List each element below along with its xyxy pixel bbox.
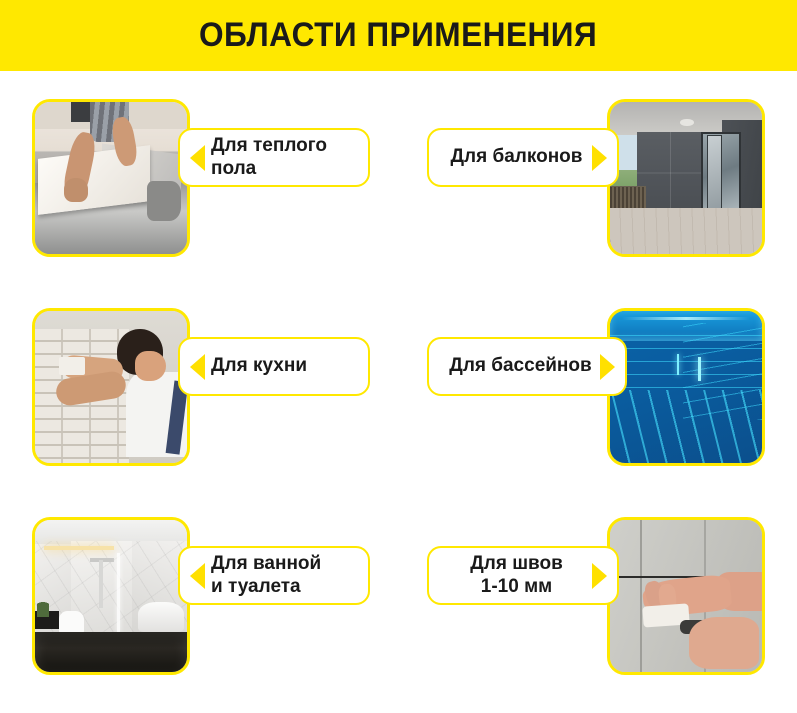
illustration-swimming-pool <box>610 311 762 463</box>
card-label-text: Для бассейнов <box>441 355 600 377</box>
illustration-balcony <box>610 102 762 254</box>
grid-row: Для теплого пола Для балконов <box>0 71 797 285</box>
card-warm-floor[interactable]: Для теплого пола <box>0 71 398 285</box>
card-label-text: Для ванной и туалета <box>205 553 356 597</box>
grid-row: Для кухни Для бассейнов <box>0 280 797 494</box>
grid-row: Для ванной и туалета Для швов 1-10 мм <box>0 489 797 703</box>
card-label-joints[interactable]: Для швов 1-10 мм <box>427 546 619 605</box>
card-label-kitchen[interactable]: Для кухни <box>178 337 370 396</box>
triangle-right-icon <box>592 563 607 589</box>
triangle-left-icon <box>190 145 205 171</box>
card-balconies[interactable]: Для балконов <box>399 71 797 285</box>
card-image-warm-floor <box>32 99 190 257</box>
illustration-grouting-joints <box>610 520 762 672</box>
application-areas-grid: Для теплого пола Для балконов <box>0 71 797 713</box>
illustration-bathroom <box>35 520 187 672</box>
card-label-text: Для швов 1-10 мм <box>441 553 592 597</box>
card-label-text: Для теплого пола <box>205 135 356 179</box>
card-kitchen[interactable]: Для кухни <box>0 280 398 494</box>
illustration-floor-tiling <box>35 102 187 254</box>
card-image-joints <box>607 517 765 675</box>
card-image-balconies <box>607 99 765 257</box>
page-title: ОБЛАСТИ ПРИМЕНЕНИЯ <box>199 16 597 55</box>
triangle-left-icon <box>190 354 205 380</box>
card-label-pools[interactable]: Для бассейнов <box>427 337 627 396</box>
card-image-kitchen <box>32 308 190 466</box>
page-header: ОБЛАСТИ ПРИМЕНЕНИЯ <box>0 0 797 71</box>
card-label-text: Для балконов <box>441 146 592 168</box>
card-label-text: Для кухни <box>205 355 356 377</box>
triangle-left-icon <box>190 563 205 589</box>
triangle-right-icon <box>600 354 615 380</box>
illustration-wall-tiling <box>35 311 187 463</box>
triangle-right-icon <box>592 145 607 171</box>
card-image-pools <box>607 308 765 466</box>
card-bathroom[interactable]: Для ванной и туалета <box>0 489 398 703</box>
card-joints[interactable]: Для швов 1-10 мм <box>399 489 797 703</box>
card-label-warm-floor[interactable]: Для теплого пола <box>178 128 370 187</box>
card-image-bathroom <box>32 517 190 675</box>
card-pools[interactable]: Для бассейнов <box>399 280 797 494</box>
card-label-bathroom[interactable]: Для ванной и туалета <box>178 546 370 605</box>
card-label-balconies[interactable]: Для балконов <box>427 128 619 187</box>
